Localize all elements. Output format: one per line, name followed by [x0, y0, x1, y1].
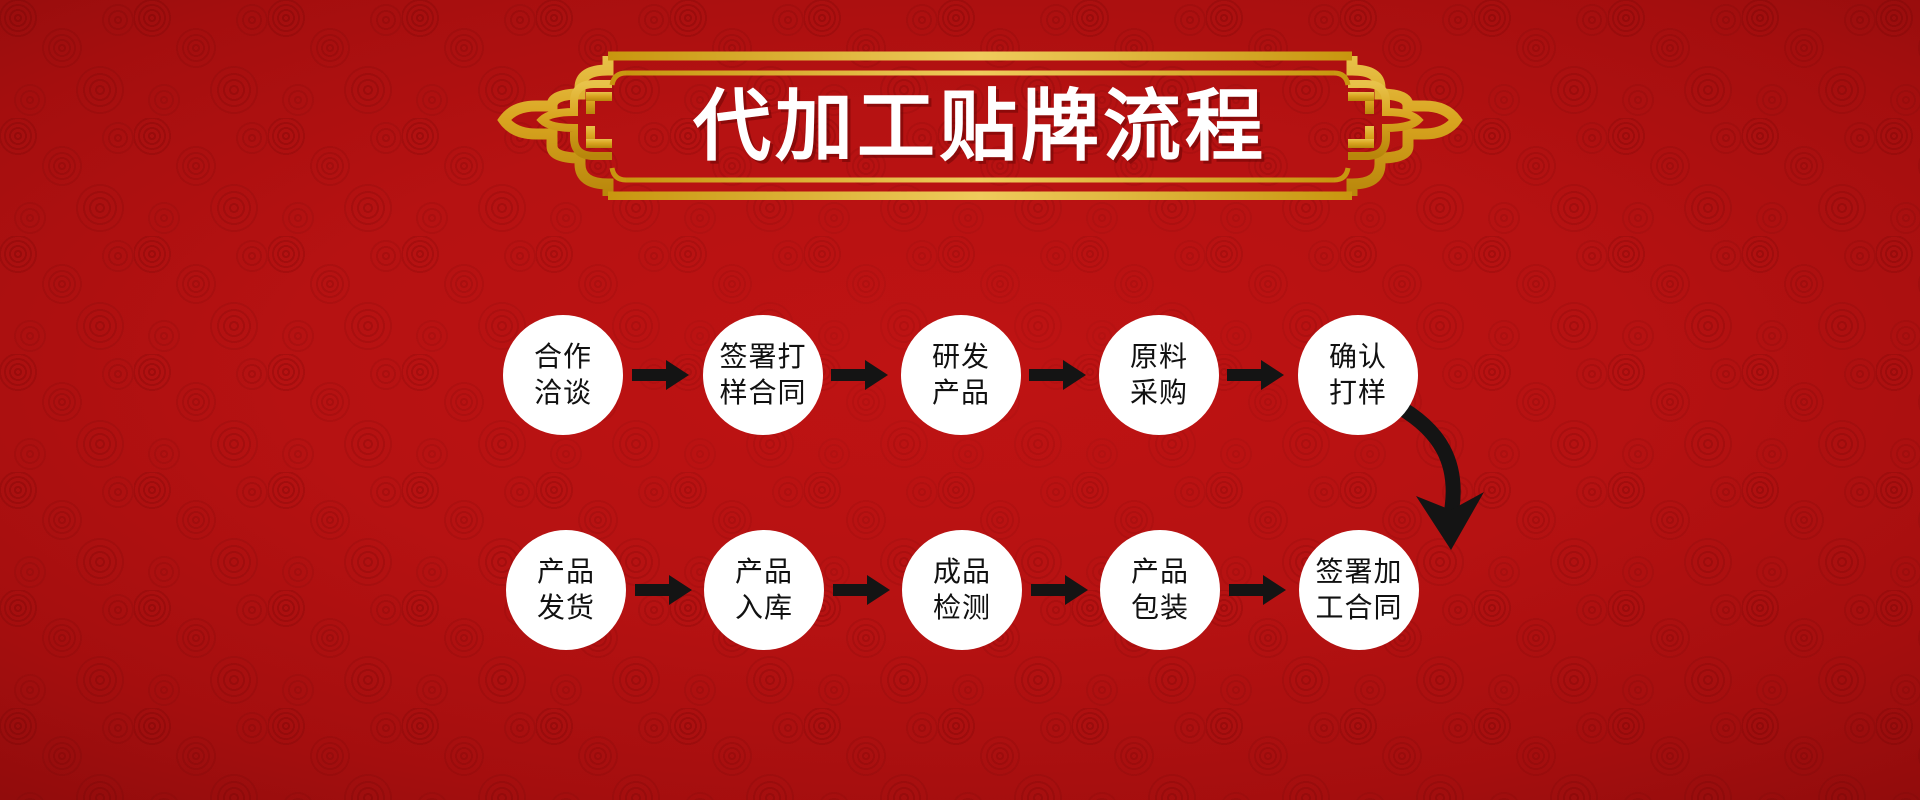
arrow-n3-to-n4	[1029, 358, 1087, 392]
flow-node-line-2: 产品	[932, 375, 990, 411]
flow-node-finished-product-inspection[interactable]: 成品 检测	[902, 530, 1022, 650]
flow-node-sign-processing-contract[interactable]: 签署加 工合同	[1299, 530, 1419, 650]
process-flow-diagram: 合作 洽谈 签署打 样合同 研发 产品 原料 采购 确认 打样 产品 发货 产品…	[0, 0, 1920, 800]
arrow-n4-to-n5	[1227, 358, 1285, 392]
flow-node-line-2: 打样	[1329, 375, 1387, 411]
arrow-n6-to-n7	[635, 573, 693, 607]
flow-node-raw-material-purchase[interactable]: 原料 采购	[1099, 315, 1219, 435]
flow-node-sign-sample-contract[interactable]: 签署打 样合同	[703, 315, 823, 435]
flow-node-line-1: 成品	[933, 554, 991, 590]
arrow-n7-to-n8	[833, 573, 891, 607]
flow-node-line-2: 工合同	[1315, 590, 1402, 626]
flow-node-line-1: 签署加	[1315, 554, 1402, 590]
flow-node-line-2: 包装	[1131, 590, 1189, 626]
flow-node-line-2: 入库	[735, 590, 793, 626]
flow-node-line-1: 产品	[1131, 554, 1189, 590]
flow-node-product-shipping[interactable]: 产品 发货	[506, 530, 626, 650]
arrow-n5-to-n10-curved	[1380, 400, 1510, 560]
flow-node-line-2: 发货	[537, 590, 595, 626]
flow-node-cooperation-talk[interactable]: 合作 洽谈	[503, 315, 623, 435]
flow-node-line-1: 确认	[1329, 339, 1387, 375]
flow-node-line-1: 签署打	[719, 339, 806, 375]
flow-node-confirm-sample[interactable]: 确认 打样	[1298, 315, 1418, 435]
flow-node-line-1: 产品	[735, 554, 793, 590]
flow-node-product-packaging[interactable]: 产品 包装	[1100, 530, 1220, 650]
flow-node-develop-product[interactable]: 研发 产品	[901, 315, 1021, 435]
flow-node-line-2: 检测	[933, 590, 991, 626]
flow-node-line-2: 采购	[1130, 375, 1188, 411]
arrow-n1-to-n2	[632, 358, 690, 392]
flow-node-line-2: 洽谈	[534, 375, 592, 411]
flow-node-line-1: 合作	[534, 339, 592, 375]
flow-node-product-warehousing[interactable]: 产品 入库	[704, 530, 824, 650]
flow-node-line-1: 原料	[1130, 339, 1188, 375]
arrow-n2-to-n3	[831, 358, 889, 392]
arrow-n9-to-n10	[1229, 573, 1287, 607]
flow-node-line-2: 样合同	[719, 375, 806, 411]
poster-canvas: 代加工贴牌流程	[0, 0, 1920, 800]
flow-node-line-1: 产品	[537, 554, 595, 590]
arrow-n8-to-n9	[1031, 573, 1089, 607]
flow-node-line-1: 研发	[932, 339, 990, 375]
